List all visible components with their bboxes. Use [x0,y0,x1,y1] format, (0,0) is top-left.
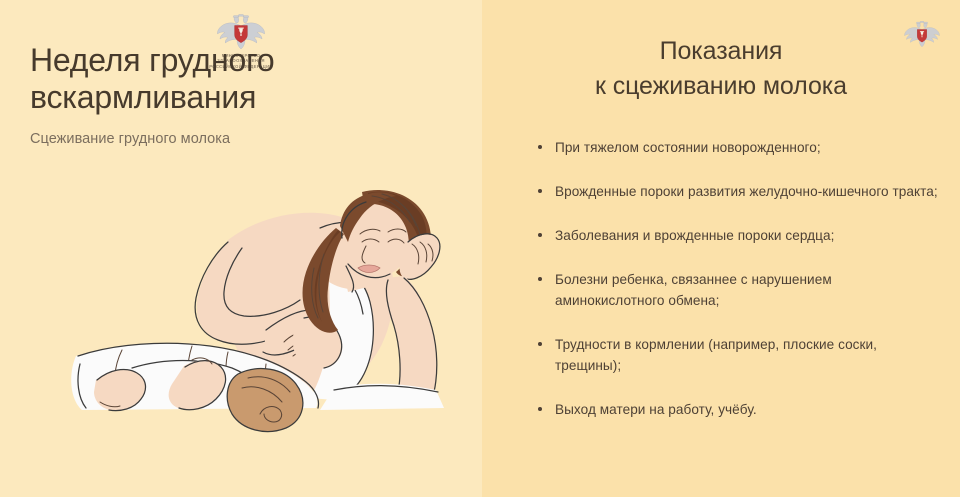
bullet-icon [538,189,542,193]
list-item: Трудности в кормлении (например, плоские… [537,334,942,376]
list-item-text: Трудности в кормлении (например, плоские… [555,337,877,373]
list-item-text: Болезни ребенка, связаннее с нарушением … [555,272,832,308]
list-item: Болезни ребенка, связаннее с нарушением … [537,269,942,311]
bullet-icon [538,145,542,149]
bullet-icon [538,407,542,411]
page-subtitle: Сцеживание грудного молока [30,130,450,148]
list-item-text: При тяжелом состоянии новорожденного; [555,140,821,155]
bullet-icon [538,342,542,346]
indications-heading: Показания к сцеживанию молока [482,34,960,104]
list-item-text: Врожденные пороки развития желудочно-киш… [555,184,938,199]
indications-list: При тяжелом состоянии новорожденного; Вр… [537,137,942,420]
list-item-text: Заболевания и врожденные пороки сердца; [555,228,834,243]
breastfeeding-illustration: .sk { fill:#f6d9c2; } .skd { fill:#efc9a… [52,168,464,434]
mother-and-baby-drawing: .sk { fill:#f6d9c2; } .skd { fill:#efc9a… [52,168,464,434]
right-panel: Показания к сцеживанию молока При тяжело… [482,0,960,497]
title-block: Неделя грудного вскармливания Сцеживание… [30,42,450,148]
left-panel: МИНИСТЕРСТВО ЗДРАВООХРАНЕНИЯ РОССИЙСКОЙ … [0,0,482,497]
infographic-slide: МИНИСТЕРСТВО ЗДРАВООХРАНЕНИЯ РОССИЙСКОЙ … [0,0,960,497]
bullet-icon [538,233,542,237]
bullet-icon [538,277,542,281]
list-item: Выход матери на работу, учёбу. [537,399,942,420]
list-item: При тяжелом состоянии новорожденного; [537,137,942,158]
list-item: Врожденные пороки развития желудочно-киш… [537,181,942,202]
list-item: Заболевания и врожденные пороки сердца; [537,225,942,246]
list-item-text: Выход матери на работу, учёбу. [555,402,757,417]
page-title: Неделя грудного вскармливания [30,42,450,116]
